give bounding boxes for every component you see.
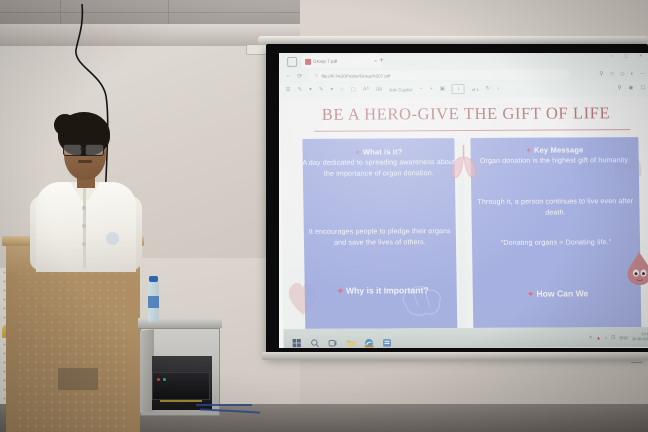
bottle-cap [149,276,158,282]
right-panel-heading: Key Message [534,145,584,154]
glasses-lens [85,144,104,156]
zoom-in-button[interactable]: + [430,86,433,92]
windows-taskbar: ∧ ▲ ♪ ◫ ENG 13:15 26-08-2025 [283,327,648,348]
projected-browser-window: Group 7.pdf × + – □ × ← ⟳ ☉ file:///F:/%… [279,53,648,348]
shirt-placket [83,188,86,268]
address-url: file:///F:/%20Poster/Group%207.pdf [321,73,390,78]
projection-screen-bottom-bar [262,352,648,360]
cabinet-vent [631,362,642,363]
shirt-logo [106,232,119,245]
search-icon[interactable]: ⚲ [599,71,603,77]
page-total-label: of 1 [472,86,479,91]
bottom-left-heading: Why is it Important? [346,285,429,295]
audio-amplifier [152,372,210,400]
blood-drop-character-icon [626,251,648,285]
ask-copilot-button[interactable]: Ask Copilot [389,87,412,92]
spark-icon: ✦ [527,290,534,299]
spark-icon: ✦ [337,287,344,296]
bottom-right-heading-row: ✦ How Can We [479,287,637,301]
chevron-up-icon[interactable]: ∧ [589,334,592,340]
left-panel-paragraph-1: A day dedicated to spreading awareness a… [301,157,457,181]
title-underline [314,129,630,132]
active-app-indicator [365,345,374,347]
amplifier-led [157,378,160,381]
reload-icon[interactable]: ⟳ [297,72,302,79]
pdf-poster-slide: BE A HERO-GIVE THE GIFT OF LIFE [280,97,648,329]
new-tab-button[interactable]: + [379,55,384,65]
edge-icon[interactable] [364,334,373,343]
browser-tab[interactable]: Group 7.pdf × [301,54,381,67]
projection-screen-surface: Group 7.pdf × + – □ × ← ⟳ ☉ file:///F:/%… [279,53,648,348]
read-aloud-icon[interactable]: Aᴬ [363,87,369,93]
poster-title: BE A HERO-GIVE THE GIFT OF LIFE [280,103,648,125]
shirt-button [82,242,86,246]
clock[interactable]: 13:15 26-08-2025 [632,332,648,341]
shirt-button [82,206,86,210]
page-number-input[interactable]: 1 [452,84,465,94]
close-icon[interactable]: × [374,58,377,64]
tab-search-icon[interactable] [287,57,297,67]
sidebar-icon[interactable]: ☰ [286,87,291,93]
favorite-star-icon[interactable]: ☆ [609,71,614,77]
search-icon[interactable] [310,334,319,343]
presentation-room-photo: Group 7.pdf × + – □ × ← ⟳ ☉ file:///F:/%… [0,0,648,432]
back-arrow-icon[interactable]: ← [285,73,291,79]
tab-title: Group 7.pdf [313,59,337,64]
presenter-moustache [78,160,92,163]
search-icon[interactable]: ⚲ [618,85,622,91]
shirt-button [82,224,86,228]
more-icon[interactable]: ⋯ [640,71,646,77]
text-size-icon[interactable]: āā [376,86,382,92]
app-icon[interactable] [382,334,391,343]
draw-icon[interactable]: ✎ [319,87,324,93]
language-indicator[interactable]: ENG [619,335,628,340]
podium-front-panel [16,262,128,430]
fit-page-icon[interactable]: ▣ [440,86,445,92]
pdf-toolbar-right: ⚲ ◉ ☐ ▣ [618,85,648,91]
cable [160,400,202,402]
battery-icon[interactable]: ◫ [611,334,615,340]
spark-icon: ✦ [355,150,361,157]
start-button[interactable] [292,334,301,343]
amplifier-led [163,378,166,381]
taskbar-icons [292,334,391,344]
pdf-toolbar: ☰ ✎ ▾ ✎ ▾ ○ ▢ Aᴬ āā Ask Copilot − + ▣ 1 … [279,81,648,97]
cable [196,404,252,406]
presenter [30,112,140,252]
annotate-icon[interactable]: ◉ [629,85,634,91]
clock-time: 13:15 [641,332,648,336]
glasses-lens [63,144,82,156]
erase-icon[interactable]: ○ [340,87,343,93]
next-icon[interactable]: › [497,86,499,92]
file-icon: ☉ [314,73,318,79]
network-icon[interactable]: ▲ [596,335,601,340]
collections-icon[interactable]: ◇ [620,71,624,77]
text-box-icon[interactable]: ▢ [351,87,356,93]
left-panel-heading: What is it? [363,147,403,156]
chevron-down-icon[interactable]: ▾ [309,87,312,93]
bottom-right-heading: How Can We [536,288,588,298]
address-bar-actions: ⚲ ☆ ◇ ◐ ⋯ [599,71,648,77]
chevron-down-icon[interactable]: ▾ [330,87,333,93]
file-explorer-icon[interactable] [346,334,355,343]
system-tray: ∧ ▲ ♪ ◫ ENG 13:15 26-08-2025 [589,332,648,342]
glasses-icon [63,144,108,154]
highlight-icon[interactable]: ✎ [297,87,302,93]
browser-tabstrip: Group 7.pdf × + – □ × [279,53,648,68]
sound-icon[interactable]: ♪ [605,335,607,340]
spark-icon: ✦ [526,148,532,155]
profile-icon[interactable]: ◐ [631,71,634,77]
browser-chrome: Group 7.pdf × + – □ × ← ⟳ ☉ file:///F:/%… [279,53,648,99]
task-view-icon[interactable] [328,334,337,343]
rotate-icon[interactable]: ↻ [486,86,491,92]
left-panel-paragraph-2: It encourages people to pledge their org… [304,226,456,250]
right-panel-paragraph-1: Organ donation is the highest gift of hu… [471,155,639,167]
zoom-out-button[interactable]: − [419,86,422,92]
right-panel-quote: “Donating organs = Donating life.” [472,237,640,249]
podium-name-plate [58,368,98,390]
window-controls[interactable]: – □ × [611,53,648,59]
right-panel-paragraph-2: Through it, a person continues to live e… [471,196,639,220]
pdf-icon [305,58,311,64]
bottom-left-heading-row: ✦ Why is it Important? [313,284,453,298]
print-icon[interactable]: ☐ [640,85,645,91]
clock-date: 26-08-2025 [632,337,648,341]
bottle-label [148,296,159,308]
address-input[interactable]: ☉ file:///F:/%20Poster/Group%207.pdf [308,69,570,80]
